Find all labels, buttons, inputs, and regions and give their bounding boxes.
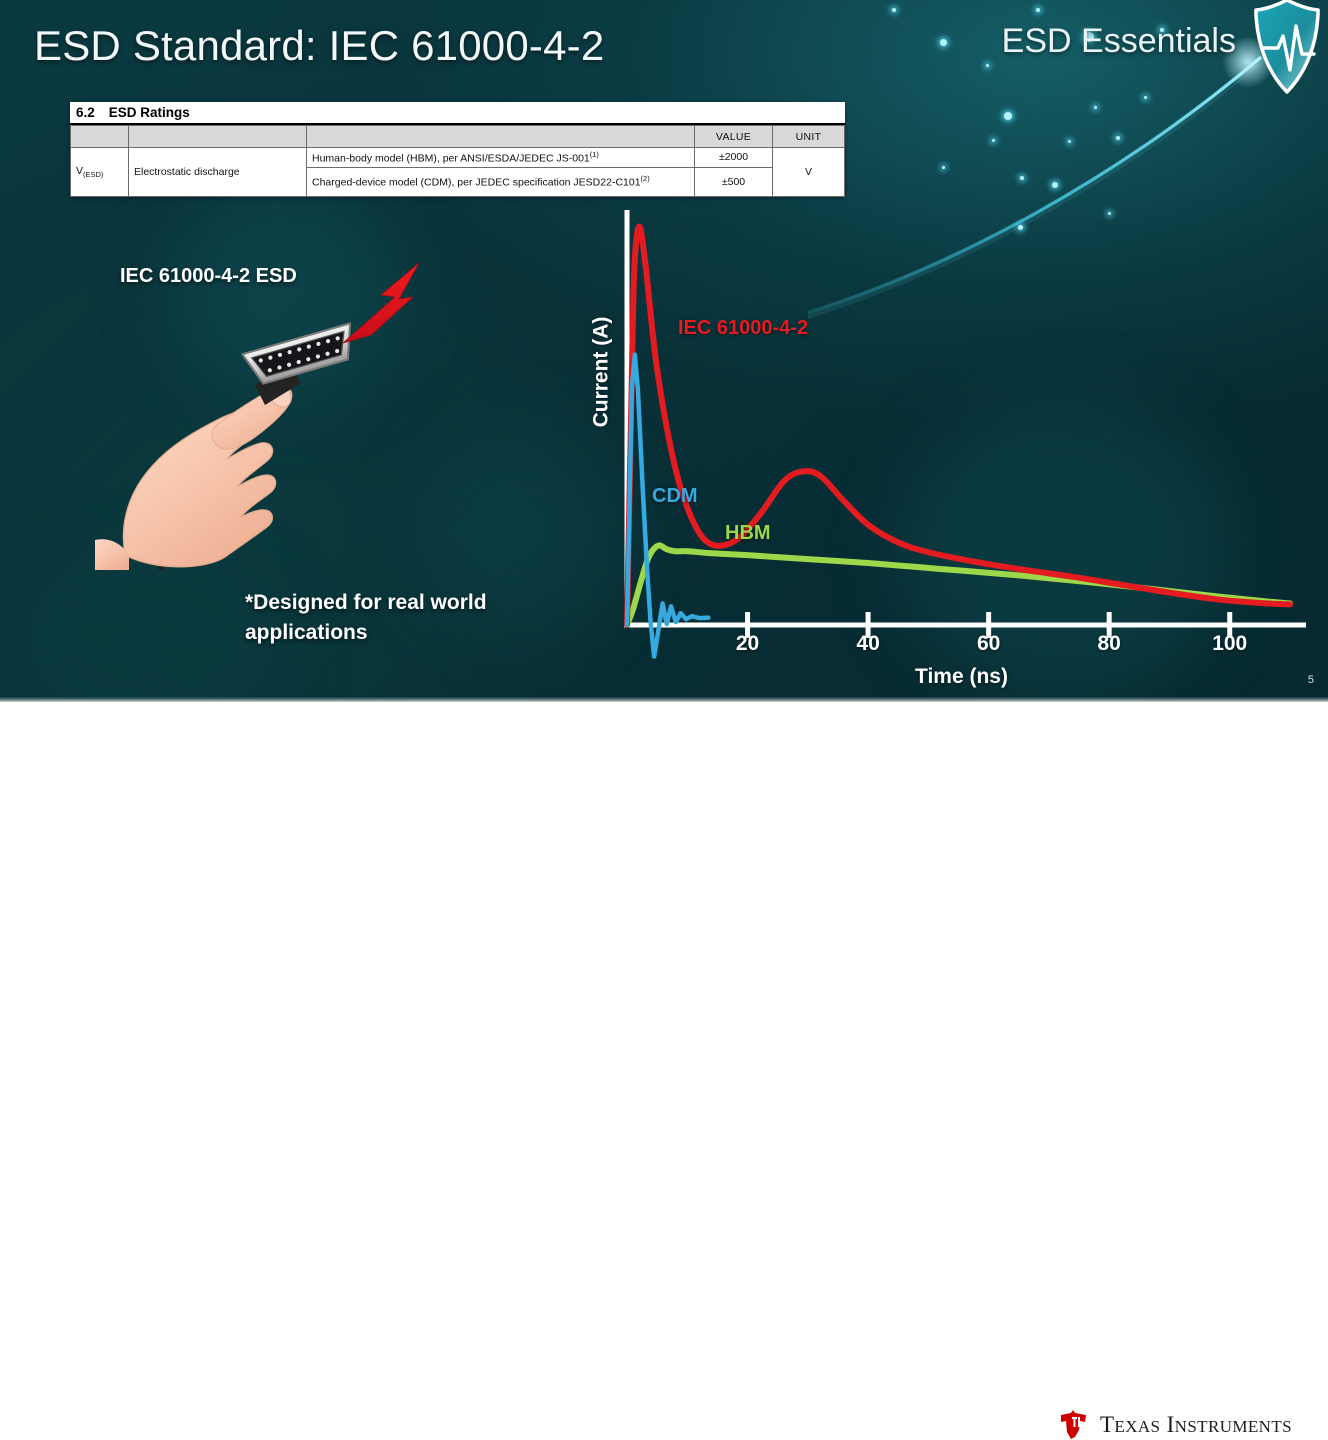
hand-with-hdmi-illustration bbox=[95, 255, 435, 570]
particle-dot bbox=[1036, 8, 1040, 12]
slide-root: ESD Standard: IEC 61000-4-2 ESD Essentia… bbox=[0, 0, 1328, 746]
particle-dot bbox=[942, 166, 945, 169]
section-title: ESD Ratings bbox=[109, 105, 190, 120]
footer-bar: TEXAS INSTRUMENTS bbox=[0, 702, 1328, 746]
x-tick-label: 60 bbox=[977, 632, 1000, 656]
x-axis-label: Time (ns) bbox=[915, 665, 1008, 689]
header-empty-description bbox=[307, 126, 695, 148]
ti-word-texas-rest: EXAS bbox=[1114, 1417, 1160, 1436]
header-unit: UNIT bbox=[773, 126, 845, 148]
particle-dot bbox=[940, 39, 947, 46]
ti-word-texas-cap: T bbox=[1100, 1412, 1114, 1437]
esd-ratings-table: 6.2 ESD Ratings VALUE UNIT bbox=[70, 102, 845, 197]
cell-symbol: V(ESD) bbox=[71, 148, 129, 197]
footnote-marker-2: (2) bbox=[641, 174, 650, 183]
description-text-hbm: Human-body model (HBM), per ANSI/ESDA/JE… bbox=[312, 153, 590, 165]
slide-background: ESD Standard: IEC 61000-4-2 ESD Essentia… bbox=[0, 0, 1328, 700]
particle-dot bbox=[1052, 182, 1058, 188]
particle-dot bbox=[892, 8, 896, 12]
symbol-subscript: (ESD) bbox=[83, 170, 103, 179]
series-label-hbm: HBM bbox=[725, 522, 771, 545]
particle-dot bbox=[1144, 96, 1147, 99]
brand-title: ESD Essentials bbox=[1002, 22, 1236, 61]
lightning-bolt-icon bbox=[343, 263, 419, 343]
ti-word-instruments-rest: NSTRUMENTS bbox=[1175, 1417, 1292, 1436]
footnote-marker-1: (1) bbox=[590, 150, 599, 159]
x-tick-label: 80 bbox=[1097, 632, 1120, 656]
cell-parameter: Electrostatic discharge bbox=[129, 148, 307, 197]
cell-unit: V bbox=[773, 148, 845, 197]
esd-shield-icon bbox=[1248, 0, 1326, 100]
cell-value-cdm: ±500 bbox=[695, 167, 773, 196]
ti-word-instruments-cap: I bbox=[1167, 1412, 1175, 1437]
particle-dot bbox=[1116, 136, 1120, 140]
ti-wordmark: TEXAS INSTRUMENTS bbox=[1100, 1412, 1292, 1438]
table-header-row: VALUE UNIT bbox=[71, 126, 845, 148]
ratings-table: VALUE UNIT V(ESD) Electrostatic discharg… bbox=[70, 125, 845, 197]
header-empty-symbol bbox=[71, 126, 129, 148]
particle-dot bbox=[1004, 112, 1012, 120]
header-value: VALUE bbox=[695, 126, 773, 148]
x-tick-label: 100 bbox=[1212, 632, 1247, 656]
series-label-iec: IEC 61000-4-2 bbox=[678, 317, 808, 340]
cell-description-cdm: Charged-device model (CDM), per JEDEC sp… bbox=[307, 167, 695, 196]
cell-description-hbm: Human-body model (HBM), per ANSI/ESDA/JE… bbox=[307, 148, 695, 168]
header-empty-parameter bbox=[129, 126, 307, 148]
series-label-cdm: CDM bbox=[652, 485, 698, 508]
table-section-header: 6.2 ESD Ratings bbox=[70, 102, 845, 125]
chart-plot-svg bbox=[560, 200, 1320, 660]
design-note: *Designed for real world applications bbox=[245, 588, 545, 649]
y-axis-label: Current (A) bbox=[589, 317, 613, 428]
x-tick-label: 40 bbox=[856, 632, 879, 656]
cell-value-hbm: ±2000 bbox=[695, 148, 773, 168]
particle-dot bbox=[1094, 106, 1097, 109]
page-title: ESD Standard: IEC 61000-4-2 bbox=[34, 22, 604, 70]
symbol-main: V bbox=[76, 165, 83, 177]
particle-dot bbox=[992, 139, 995, 142]
table-row: V(ESD) Electrostatic discharge Human-bod… bbox=[71, 148, 845, 168]
page-number: 5 bbox=[1308, 674, 1314, 686]
ti-texas-icon bbox=[1056, 1410, 1090, 1440]
esd-waveform-chart: Current (A) Time (ns) 20406080100 IEC 61… bbox=[560, 200, 1320, 700]
particle-dot bbox=[1068, 140, 1071, 143]
particle-dot bbox=[1020, 176, 1024, 180]
description-text-cdm: Charged-device model (CDM), per JEDEC sp… bbox=[312, 177, 641, 189]
texas-instruments-logo: TEXAS INSTRUMENTS bbox=[1056, 1410, 1292, 1440]
background-blob bbox=[20, 560, 280, 700]
shield-svg bbox=[1248, 0, 1326, 100]
section-number: 6.2 bbox=[76, 105, 95, 120]
chart-series bbox=[627, 227, 1290, 657]
particle-dot bbox=[986, 64, 989, 67]
x-tick-label: 20 bbox=[736, 632, 759, 656]
chart-line-iec-61000-4-2 bbox=[627, 227, 1290, 625]
hand-illustration-svg bbox=[95, 255, 435, 570]
